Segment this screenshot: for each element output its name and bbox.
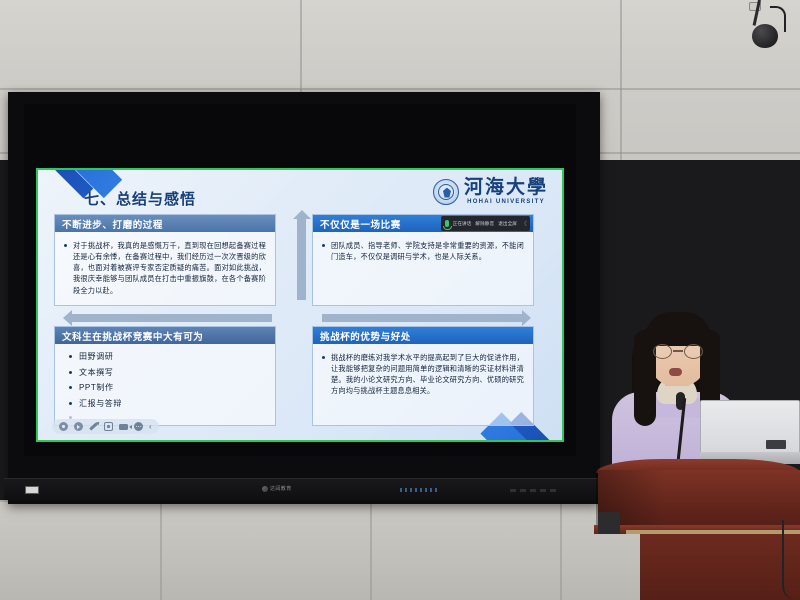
podium-base bbox=[640, 534, 800, 600]
arrow-left-icon bbox=[72, 314, 272, 322]
more-button[interactable] bbox=[134, 422, 143, 431]
quadrant-heading: 文科生在挑战杯竞赛中大有可为 bbox=[55, 327, 275, 344]
bezel-label-tag bbox=[25, 486, 39, 494]
quadrant-body-text: 对于挑战杯，我真的是感慨万千，直到现在回想起备赛过程还是心有余悸，在备赛过程中，… bbox=[73, 240, 266, 296]
list-item: 文本撰写 bbox=[69, 367, 275, 378]
brand-logo-icon bbox=[262, 486, 268, 492]
quadrant-card-top-left: 不断进步、打磨的过程 对于挑战杯，我真的是感慨万千，直到现在回想起备赛过程还是心… bbox=[54, 214, 276, 306]
meeting-mini-toolbar[interactable]: 正在讲话 解除静音 退出全屏 《 bbox=[441, 216, 530, 231]
pencil-icon bbox=[89, 422, 98, 430]
bullet-icon bbox=[322, 356, 325, 359]
display-brand: 达闼教育 bbox=[262, 485, 292, 492]
list-item: PPT制作 bbox=[69, 382, 275, 393]
list-item: 汇报与答辩 bbox=[69, 398, 275, 409]
circle-play-icon bbox=[74, 422, 83, 431]
bezel-indicator-leds bbox=[400, 488, 437, 492]
university-name-en: HOHAI UNIVERSITY bbox=[464, 199, 548, 205]
more-dots-icon bbox=[134, 422, 143, 431]
arrow-right-icon bbox=[322, 314, 522, 322]
quadrant-body-text: 挑战杯的磨练对我学术水平的提高起到了巨大的促进作用，让我能够把复杂的问题用简单的… bbox=[331, 352, 524, 397]
video-camera-icon bbox=[119, 424, 128, 430]
annotate-button[interactable] bbox=[89, 422, 98, 431]
presenter-glasses bbox=[652, 344, 704, 360]
chevron-left-icon[interactable]: 《 bbox=[521, 219, 526, 228]
bullet-icon bbox=[64, 244, 67, 247]
university-seal-icon bbox=[433, 179, 459, 205]
bullet-icon bbox=[69, 402, 72, 405]
arrow-up-icon bbox=[297, 218, 306, 300]
presentation-slide[interactable]: 七、总结与感悟 河海大學 HOHAI UNIVERSITY 不断进步、打磨的过程 bbox=[36, 168, 564, 442]
quadrant-diagram: 不断进步、打磨的过程 对于挑战杯，我真的是感慨万千，直到现在回想起备赛过程还是心… bbox=[54, 214, 550, 430]
presenter-mouth bbox=[669, 368, 682, 376]
bullet-icon bbox=[322, 244, 325, 247]
spotlight-button[interactable] bbox=[104, 422, 113, 431]
classroom-presentation-scene: 您正在共享屏幕 结束共享 七、总结与感悟 河海大學 HOHAI UNIVERSI… bbox=[0, 0, 800, 600]
list-item: 田野调研 bbox=[69, 351, 275, 362]
floor-equipment-box bbox=[598, 512, 620, 534]
record-button[interactable] bbox=[119, 422, 128, 431]
slide-title: 七、总结与感悟 bbox=[84, 188, 196, 209]
collapse-button[interactable]: ‹ bbox=[149, 423, 152, 431]
next-slide-button[interactable] bbox=[74, 422, 83, 431]
microphone-icon[interactable] bbox=[445, 220, 449, 227]
prev-slide-button[interactable] bbox=[59, 422, 68, 431]
quadrant-card-top-right: 不仅仅是一场比赛 团队成员、指导老师、学院支持是非常重要的资源，不能闭门造车，不… bbox=[312, 214, 534, 306]
display-screen: 您正在共享屏幕 结束共享 七、总结与感悟 河海大學 HOHAI UNIVERSI… bbox=[24, 104, 576, 456]
display-brand-label: 达闼教育 bbox=[270, 485, 292, 492]
quadrant-body-text: 团队成员、指导老师、学院支持是非常重要的资源，不能闭门造车，不仅仅是调研与学术，… bbox=[331, 240, 524, 262]
university-name-cn: 河海大學 bbox=[464, 178, 548, 197]
speaker-cable bbox=[770, 6, 786, 32]
meeting-unmute-button[interactable]: 解除静音 bbox=[475, 221, 494, 227]
bullet-icon bbox=[69, 371, 72, 374]
meeting-exit-fullscreen-button[interactable]: 退出全屏 bbox=[498, 221, 517, 227]
quadrant-card-bottom-left: 文科生在挑战杯竞赛中大有可为 田野调研 文本撰写 PPT制作 bbox=[54, 326, 276, 426]
bezel-ports bbox=[510, 489, 556, 492]
quadrant-card-bottom-right: 挑战杯的优势与好处 挑战杯的磨练对我学术水平的提高起到了巨大的促进作用，让我能够… bbox=[312, 326, 534, 426]
quadrant-heading: 不断进步、打磨的过程 bbox=[55, 215, 275, 232]
focus-icon bbox=[104, 422, 113, 431]
bullet-icon bbox=[69, 355, 72, 358]
monitor-port-panel bbox=[766, 440, 786, 449]
bullet-icon bbox=[69, 386, 72, 389]
quadrant-heading: 挑战杯的优势与好处 bbox=[313, 327, 533, 344]
floor-cable bbox=[782, 520, 800, 600]
meeting-speaking-label: 正在讲话 bbox=[453, 221, 472, 227]
slide-control-toolbar[interactable]: ‹ bbox=[52, 419, 159, 434]
university-brand: 河海大學 HOHAI UNIVERSITY bbox=[433, 178, 548, 205]
podium-shading bbox=[596, 470, 798, 528]
circle-left-icon bbox=[59, 422, 68, 431]
